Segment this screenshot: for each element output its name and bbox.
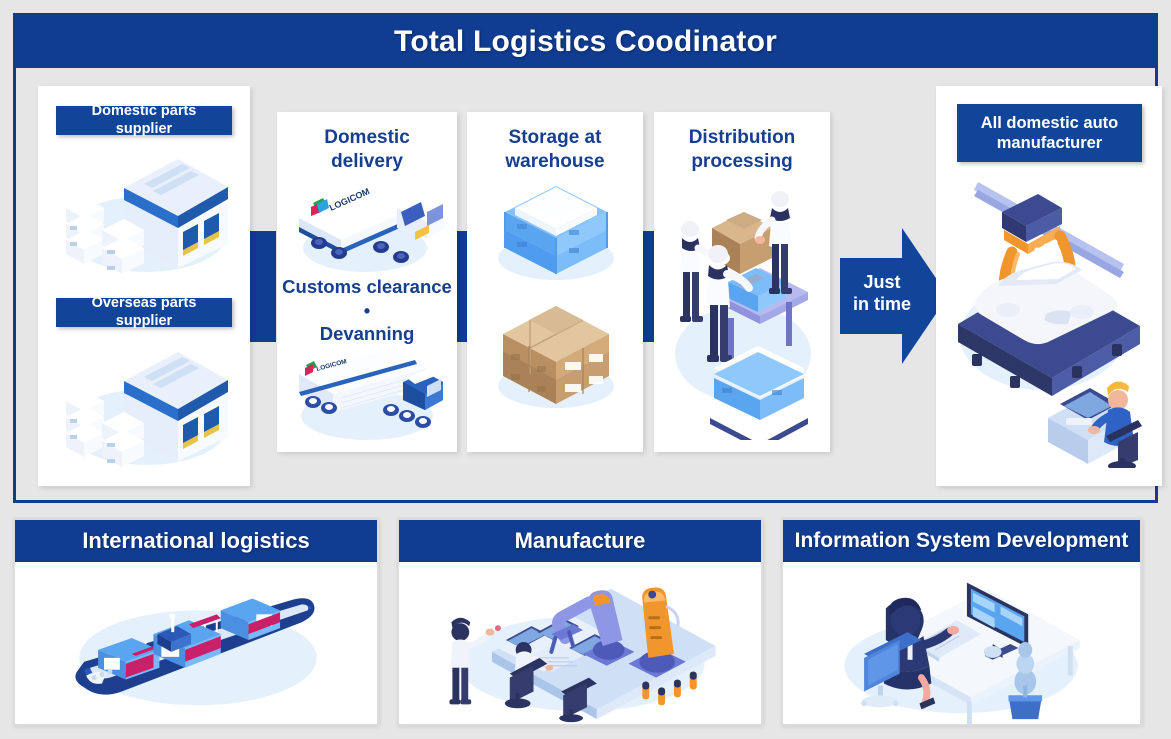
container-ship-icon [15, 562, 377, 724]
customs-clearance-heading: Customs clearance • Devanning [277, 275, 457, 346]
panel-information-system-development: Information System Development [781, 518, 1142, 726]
storage-heading: Storage at warehouse [467, 126, 643, 175]
office-worker-computer-icon [783, 562, 1140, 724]
panel-title: Information System Development [783, 520, 1140, 562]
delivery-truck-icon: LOGICOM [287, 170, 449, 278]
chip-domestic-parts-supplier: Domestic parts supplier [56, 106, 232, 135]
chip-overseas-label: Overseas parts supplier [62, 295, 226, 330]
bottom-panel-row: International logistics [13, 518, 1158, 726]
heading-line-1: Distribution [689, 127, 796, 148]
distribution-processing-heading: Distribution processing [654, 126, 830, 175]
page-title: Total Logistics Coodinator [394, 25, 777, 59]
chip-domestic-label: Domestic parts supplier [62, 103, 226, 138]
connector-bar-1 [247, 231, 276, 342]
auto-manufacturer-card: All domestic auto manufacturer [936, 86, 1162, 486]
factory-building-icon [52, 138, 236, 278]
cardboard-boxes-icon [485, 300, 627, 418]
panel-manufacture: Manufacture [397, 518, 763, 726]
domestic-delivery-heading: Domestic delivery [277, 126, 457, 175]
heading-line-1: Storage at [509, 127, 602, 148]
customs-line-1: Customs clearance • [282, 276, 452, 321]
arrow-line-2: in time [853, 294, 911, 314]
just-in-time-label: Just in time [844, 272, 920, 316]
maker-line-1: All domestic auto [981, 114, 1119, 132]
main-title-bar: Total Logistics Coodinator [16, 16, 1155, 68]
heading-line-1: Domestic [324, 127, 410, 148]
distribution-processing-card: Distribution processing [654, 112, 830, 452]
heading-line-2: warehouse [505, 151, 604, 172]
logistics-flow: Domestic parts supplier [16, 68, 1155, 503]
panel-title: Manufacture [399, 520, 761, 562]
factory-robot-arms-icon [399, 562, 761, 724]
panel-title: International logistics [15, 520, 377, 562]
chip-overseas-parts-supplier: Overseas parts supplier [56, 298, 232, 327]
arrow-line-1: Just [863, 272, 900, 292]
storage-warehouse-card: Storage at warehouse [467, 112, 643, 452]
suppliers-card: Domestic parts supplier [38, 86, 250, 486]
blue-pallet-crates-icon [485, 174, 627, 286]
just-in-time-arrow: Just in time [840, 220, 948, 372]
chip-maker-label: All domestic auto manufacturer [981, 113, 1119, 153]
heading-line-2: processing [691, 151, 792, 172]
maker-line-2: manufacturer [997, 134, 1102, 152]
auto-assembly-robot-icon [942, 168, 1156, 468]
factory-building-icon [52, 331, 236, 471]
domestic-delivery-card: Domestic delivery [277, 112, 457, 452]
main-diagram-frame: Total Logistics Coodinator Domestic part… [13, 13, 1158, 503]
chip-all-domestic-auto-manufacturer: All domestic auto manufacturer [957, 104, 1142, 162]
panel-international-logistics: International logistics [13, 518, 379, 726]
container-trailer-truck-icon: LOGICOM [285, 340, 451, 446]
warehouse-workers-icon [668, 172, 818, 440]
